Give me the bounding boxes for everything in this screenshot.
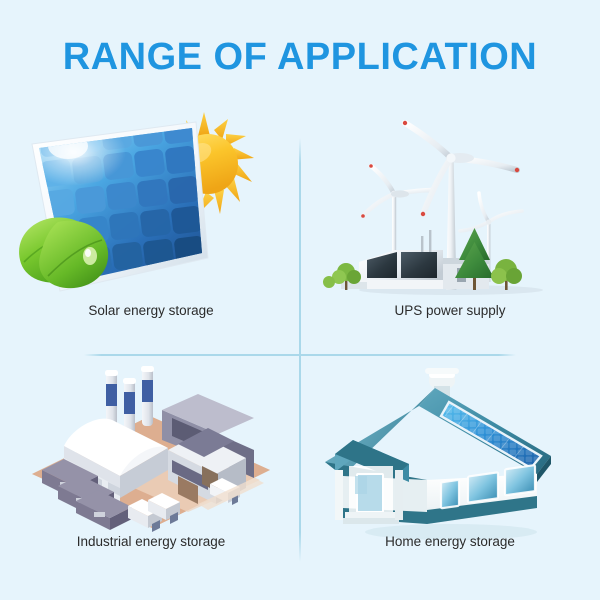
solar-panel-sun-leaves-illustration bbox=[2, 110, 300, 296]
house-with-rooftop-solar-illustration bbox=[301, 358, 599, 544]
wind-turbines-building-illustration bbox=[301, 110, 599, 296]
application-range-poster: RANGE OF APPLICATION bbox=[0, 0, 600, 600]
isometric-factory-illustration bbox=[2, 358, 300, 544]
quadrant-label-home: Home energy storage bbox=[301, 533, 599, 551]
horizontal-divider bbox=[84, 354, 516, 356]
quadrant-industrial-energy-storage[interactable]: Industrial energy storage bbox=[2, 358, 300, 588]
quadrant-label-ups: UPS power supply bbox=[301, 302, 599, 320]
quadrant-label-solar: Solar energy storage bbox=[2, 302, 300, 320]
page-title: RANGE OF APPLICATION bbox=[0, 36, 600, 78]
quadrant-home-energy-storage[interactable]: Home energy storage bbox=[301, 358, 599, 588]
quadrant-ups-power-supply[interactable]: UPS power supply bbox=[301, 110, 599, 340]
quadrant-label-industrial: Industrial energy storage bbox=[2, 533, 300, 551]
quadrant-solar-energy-storage[interactable]: Solar energy storage bbox=[2, 110, 300, 340]
